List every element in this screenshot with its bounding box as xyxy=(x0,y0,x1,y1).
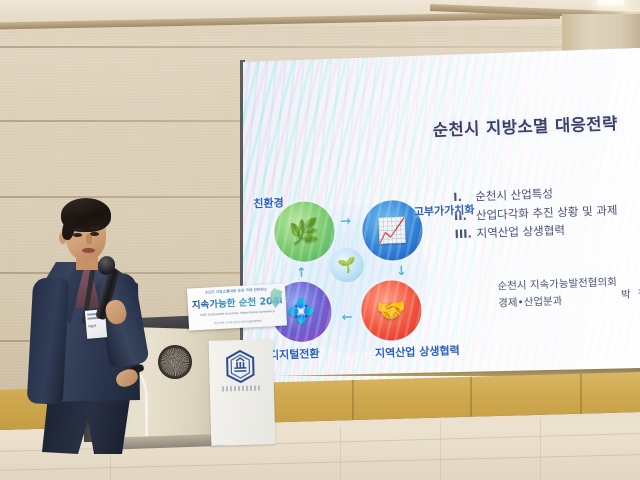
diagram-label-cooperation: 지역산업 상생협력 xyxy=(375,342,460,361)
diagram-label-eco: 친환경 xyxy=(253,194,284,211)
conference-photo-scene: 순천시 지방소멸 대응전략 I. 순천시 산업특성 II. 산업다각화 추진 상… xyxy=(0,0,640,480)
eye-left xyxy=(73,233,82,237)
diagram-label-value: 고부가가치화 xyxy=(413,201,474,219)
speaker-hair xyxy=(61,198,111,232)
diagram-arrow-left: ← xyxy=(341,310,352,325)
speaker-arm-left xyxy=(27,277,70,405)
floor-plank xyxy=(440,422,441,480)
emblem-caption xyxy=(222,386,260,392)
ceiling-light xyxy=(598,0,624,5)
speaker-legs xyxy=(42,396,134,454)
floor-plank xyxy=(340,426,341,480)
diagram-arrow-up: ↑ xyxy=(296,266,307,281)
toc-label: 지역산업 상생협력 xyxy=(476,221,565,243)
slide-presenter-name: 박 철 xyxy=(621,286,640,302)
diagram-arrow-down: ↓ xyxy=(396,264,407,279)
presentation-slide: 순천시 지방소멸 대응전략 I. 순천시 산업특성 II. 산업다각화 추진 상… xyxy=(234,33,640,392)
diagram-label-digital: 디지털전환 xyxy=(269,345,320,363)
slide-organization: 순천시 지속가능발전협의회 경제•산업분과 xyxy=(497,274,617,313)
diagram-node-cooperation: 🤝 xyxy=(360,279,422,341)
org-line-2: 경제•산업분과 xyxy=(498,292,618,314)
strategy-diagram: 🌿 📈 💠 🤝 🌱 → ↓ ← ↑ 친환경 고부가가치화 디지털전환 지역산업 … xyxy=(253,192,459,359)
mouth xyxy=(82,248,95,253)
podium-banner: 2025 지방소멸대응 순천 국제 컨퍼런스 지속가능한 순천 2040 202… xyxy=(187,283,287,330)
city-emblem-icon xyxy=(225,350,256,384)
handshake-icon: 🤝 xyxy=(360,279,422,341)
badge-name-text: 박철우 xyxy=(88,324,97,329)
slide-title: 순천시 지방소멸 대응전략 xyxy=(432,110,618,141)
banner-foot-line: 주최 순천시 주관 순천시지속가능발전협의회 xyxy=(193,318,283,327)
sprout-icon: 🌱 xyxy=(337,256,356,275)
nose xyxy=(86,234,92,244)
toc-number: III. xyxy=(454,225,470,244)
diagram-arrow-right: → xyxy=(340,214,351,229)
floor-plank xyxy=(540,418,541,480)
floor-seam xyxy=(0,454,640,471)
city-emblem-panel xyxy=(209,339,276,446)
speaker-person: 박철우 xyxy=(28,192,148,452)
slide-table-of-contents: I. 순천시 산업특성 II. 산업다각화 추진 상황 및 과제 III. 지역… xyxy=(453,182,619,244)
speaker-grille-icon xyxy=(158,345,192,379)
